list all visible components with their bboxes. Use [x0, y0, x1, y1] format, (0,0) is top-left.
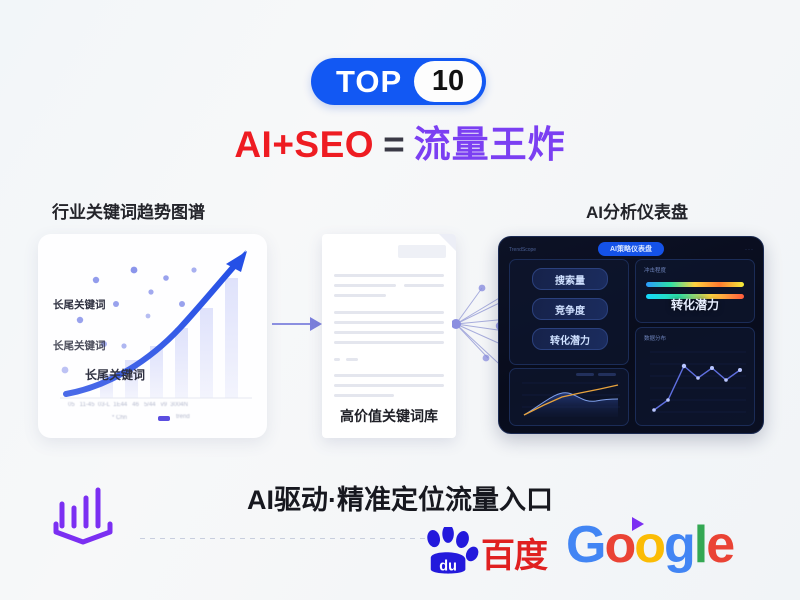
keyword-trend-card: 长尾关键词 长尾关键词 长尾关键词 05 11-45 03-L 1E44 46 …: [38, 234, 267, 438]
google-letter-g1: G: [566, 516, 604, 574]
keyword-library-doc-card: 高价值关键词库: [322, 234, 456, 438]
dashed-divider: [140, 538, 440, 539]
chart-legend-label: trend: [176, 414, 190, 420]
gauge-panel-title: 冲击程度: [644, 266, 666, 274]
infographic-canvas: TOP 10 AI+SEO=流量王炸 行业关键词趋势图谱 AI分析仪表盘: [0, 0, 800, 600]
dashboard-title-badge: AI策略仪表盘: [598, 242, 664, 256]
bar-chart-pedestal-icon: [46, 480, 120, 550]
flow-arrow-icon: [272, 313, 324, 335]
dashboard-brand: TrendScope: [509, 247, 536, 253]
dashboard-menu-icon[interactable]: ···: [745, 247, 754, 253]
ai-dashboard-card: TrendScope AI策略仪表盘 ··· 搜索量 竞争度 转化潜力 冲击程度…: [498, 236, 764, 434]
top-badge-number: 10: [414, 61, 482, 102]
bottom-tagline: AI驱动·精准定位流量入口: [0, 478, 800, 517]
google-letter-g2: g: [664, 516, 694, 574]
play-cursor-icon: [628, 515, 648, 535]
headline-ai-seo: AI+SEO: [234, 124, 374, 165]
trend-area-chart-panel: [509, 368, 629, 426]
google-letter-e: e: [706, 516, 733, 574]
metric-pill-search-volume[interactable]: 搜索量: [532, 268, 608, 290]
top-badge-word: TOP: [336, 66, 402, 97]
metric-pill-panel: 搜索量 竞争度 转化潜力: [509, 259, 629, 365]
google-logo: Google: [566, 519, 746, 583]
right-section-caption: AI分析仪表盘: [586, 198, 688, 223]
distribution-chart-panel: 数据分布: [635, 327, 755, 426]
impact-gauge-panel: 冲击程度 转化潜力: [635, 259, 755, 323]
baidu-paw-icon: du: [421, 527, 479, 577]
doc-header-chip: [398, 245, 446, 258]
left-section-caption: 行业关键词趋势图谱: [52, 198, 205, 223]
headline-equals: =: [383, 124, 405, 165]
page-title: AI+SEO=流量王炸: [0, 126, 800, 163]
trend-area-chart: [510, 369, 628, 425]
baidu-wordmark: 百度: [481, 539, 547, 573]
keyword-label-3: 长尾关键词: [85, 366, 145, 383]
gauge-bar-1: [646, 282, 744, 287]
chart-legend-swatch: [158, 416, 170, 421]
google-wordmark: Google: [566, 519, 746, 571]
svg-text:du: du: [439, 558, 457, 574]
headline-traffic: 流量王炸: [414, 124, 566, 165]
gauge-overlay-label: 转化潜力: [636, 296, 754, 313]
metric-pill-competition[interactable]: 竞争度: [532, 298, 608, 320]
distribution-line-chart: [636, 328, 754, 425]
axis-note: * Chn: [112, 415, 127, 421]
top-rank-badge: TOP 10: [311, 58, 486, 105]
doc-caption: 高价值关键词库: [322, 406, 456, 426]
google-letter-l: l: [694, 516, 706, 574]
baidu-logo: du 百度: [421, 525, 561, 583]
keyword-label-1: 长尾关键词: [53, 297, 106, 312]
keyword-label-2: 长尾关键词: [53, 338, 106, 353]
metric-pill-conversion[interactable]: 转化潜力: [532, 328, 608, 350]
